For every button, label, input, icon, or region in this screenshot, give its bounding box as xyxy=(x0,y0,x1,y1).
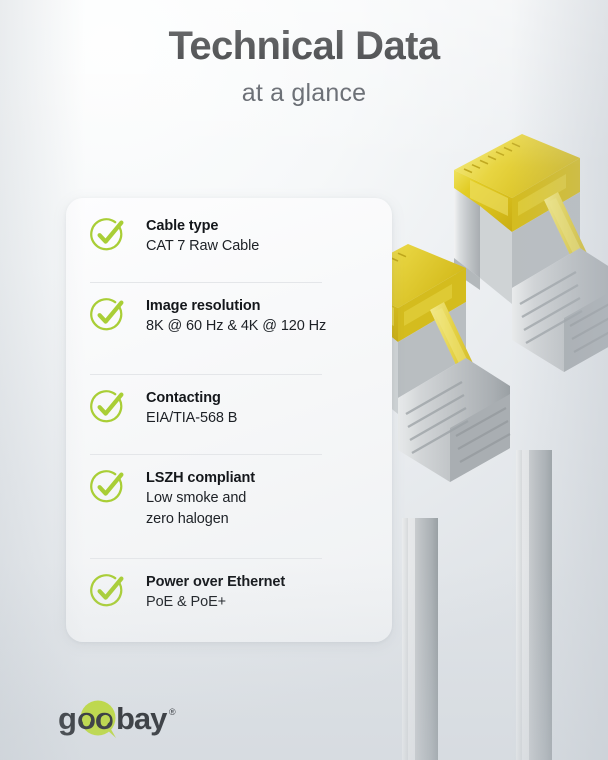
spec-title: Power over Ethernet xyxy=(146,573,378,592)
rj45-plug-back xyxy=(454,134,608,372)
page-title: Technical Data xyxy=(0,24,608,68)
cable-stem-back xyxy=(516,450,552,760)
check-circle-icon xyxy=(90,572,126,608)
goobay-logo: g oo bay ® xyxy=(50,700,210,740)
page-subtitle: at a glance xyxy=(0,80,608,108)
spec-row: Power over EthernetPoE & PoE+ xyxy=(66,572,392,613)
spec-row: ContactingEIA/TIA-568 B xyxy=(66,388,392,429)
check-circle-icon xyxy=(90,468,126,504)
spec-divider xyxy=(90,454,322,455)
spec-title: Cable type xyxy=(146,217,378,236)
check-circle-icon xyxy=(90,388,126,424)
spec-row: Image resolution8K @ 60 Hz & 4K @ 120 Hz xyxy=(66,296,392,337)
spec-divider xyxy=(90,558,322,559)
spec-title: LSZH compliant xyxy=(146,469,378,488)
spec-value: 8K @ 60 Hz & 4K @ 120 Hz xyxy=(146,317,378,336)
spec-divider xyxy=(90,282,322,283)
spec-row: Cable typeCAT 7 Raw Cable xyxy=(66,216,392,257)
logo-text-bay: bay xyxy=(116,701,168,736)
spec-value: Low smoke and xyxy=(146,489,378,508)
spec-value: PoE & PoE+ xyxy=(146,593,378,612)
check-circle-icon xyxy=(90,296,126,332)
logo-text-g: g xyxy=(58,701,76,736)
cable-stem-front xyxy=(402,518,438,760)
spec-title: Image resolution xyxy=(146,297,378,316)
spec-card: Cable typeCAT 7 Raw CableImage resolutio… xyxy=(66,198,392,642)
spec-value: CAT 7 Raw Cable xyxy=(146,237,378,256)
spec-divider xyxy=(90,374,322,375)
header: Technical Data at a glance xyxy=(0,24,608,108)
logo-registered-mark: ® xyxy=(169,707,176,717)
spec-row: LSZH compliantLow smoke andzero halogen xyxy=(66,468,392,529)
spec-value-line2: zero halogen xyxy=(146,510,378,529)
spec-value: EIA/TIA-568 B xyxy=(146,409,378,428)
check-circle-icon xyxy=(90,216,126,252)
infographic-canvas: Technical Data at a glance Cable typeCAT… xyxy=(0,0,608,760)
spec-title: Contacting xyxy=(146,389,378,408)
